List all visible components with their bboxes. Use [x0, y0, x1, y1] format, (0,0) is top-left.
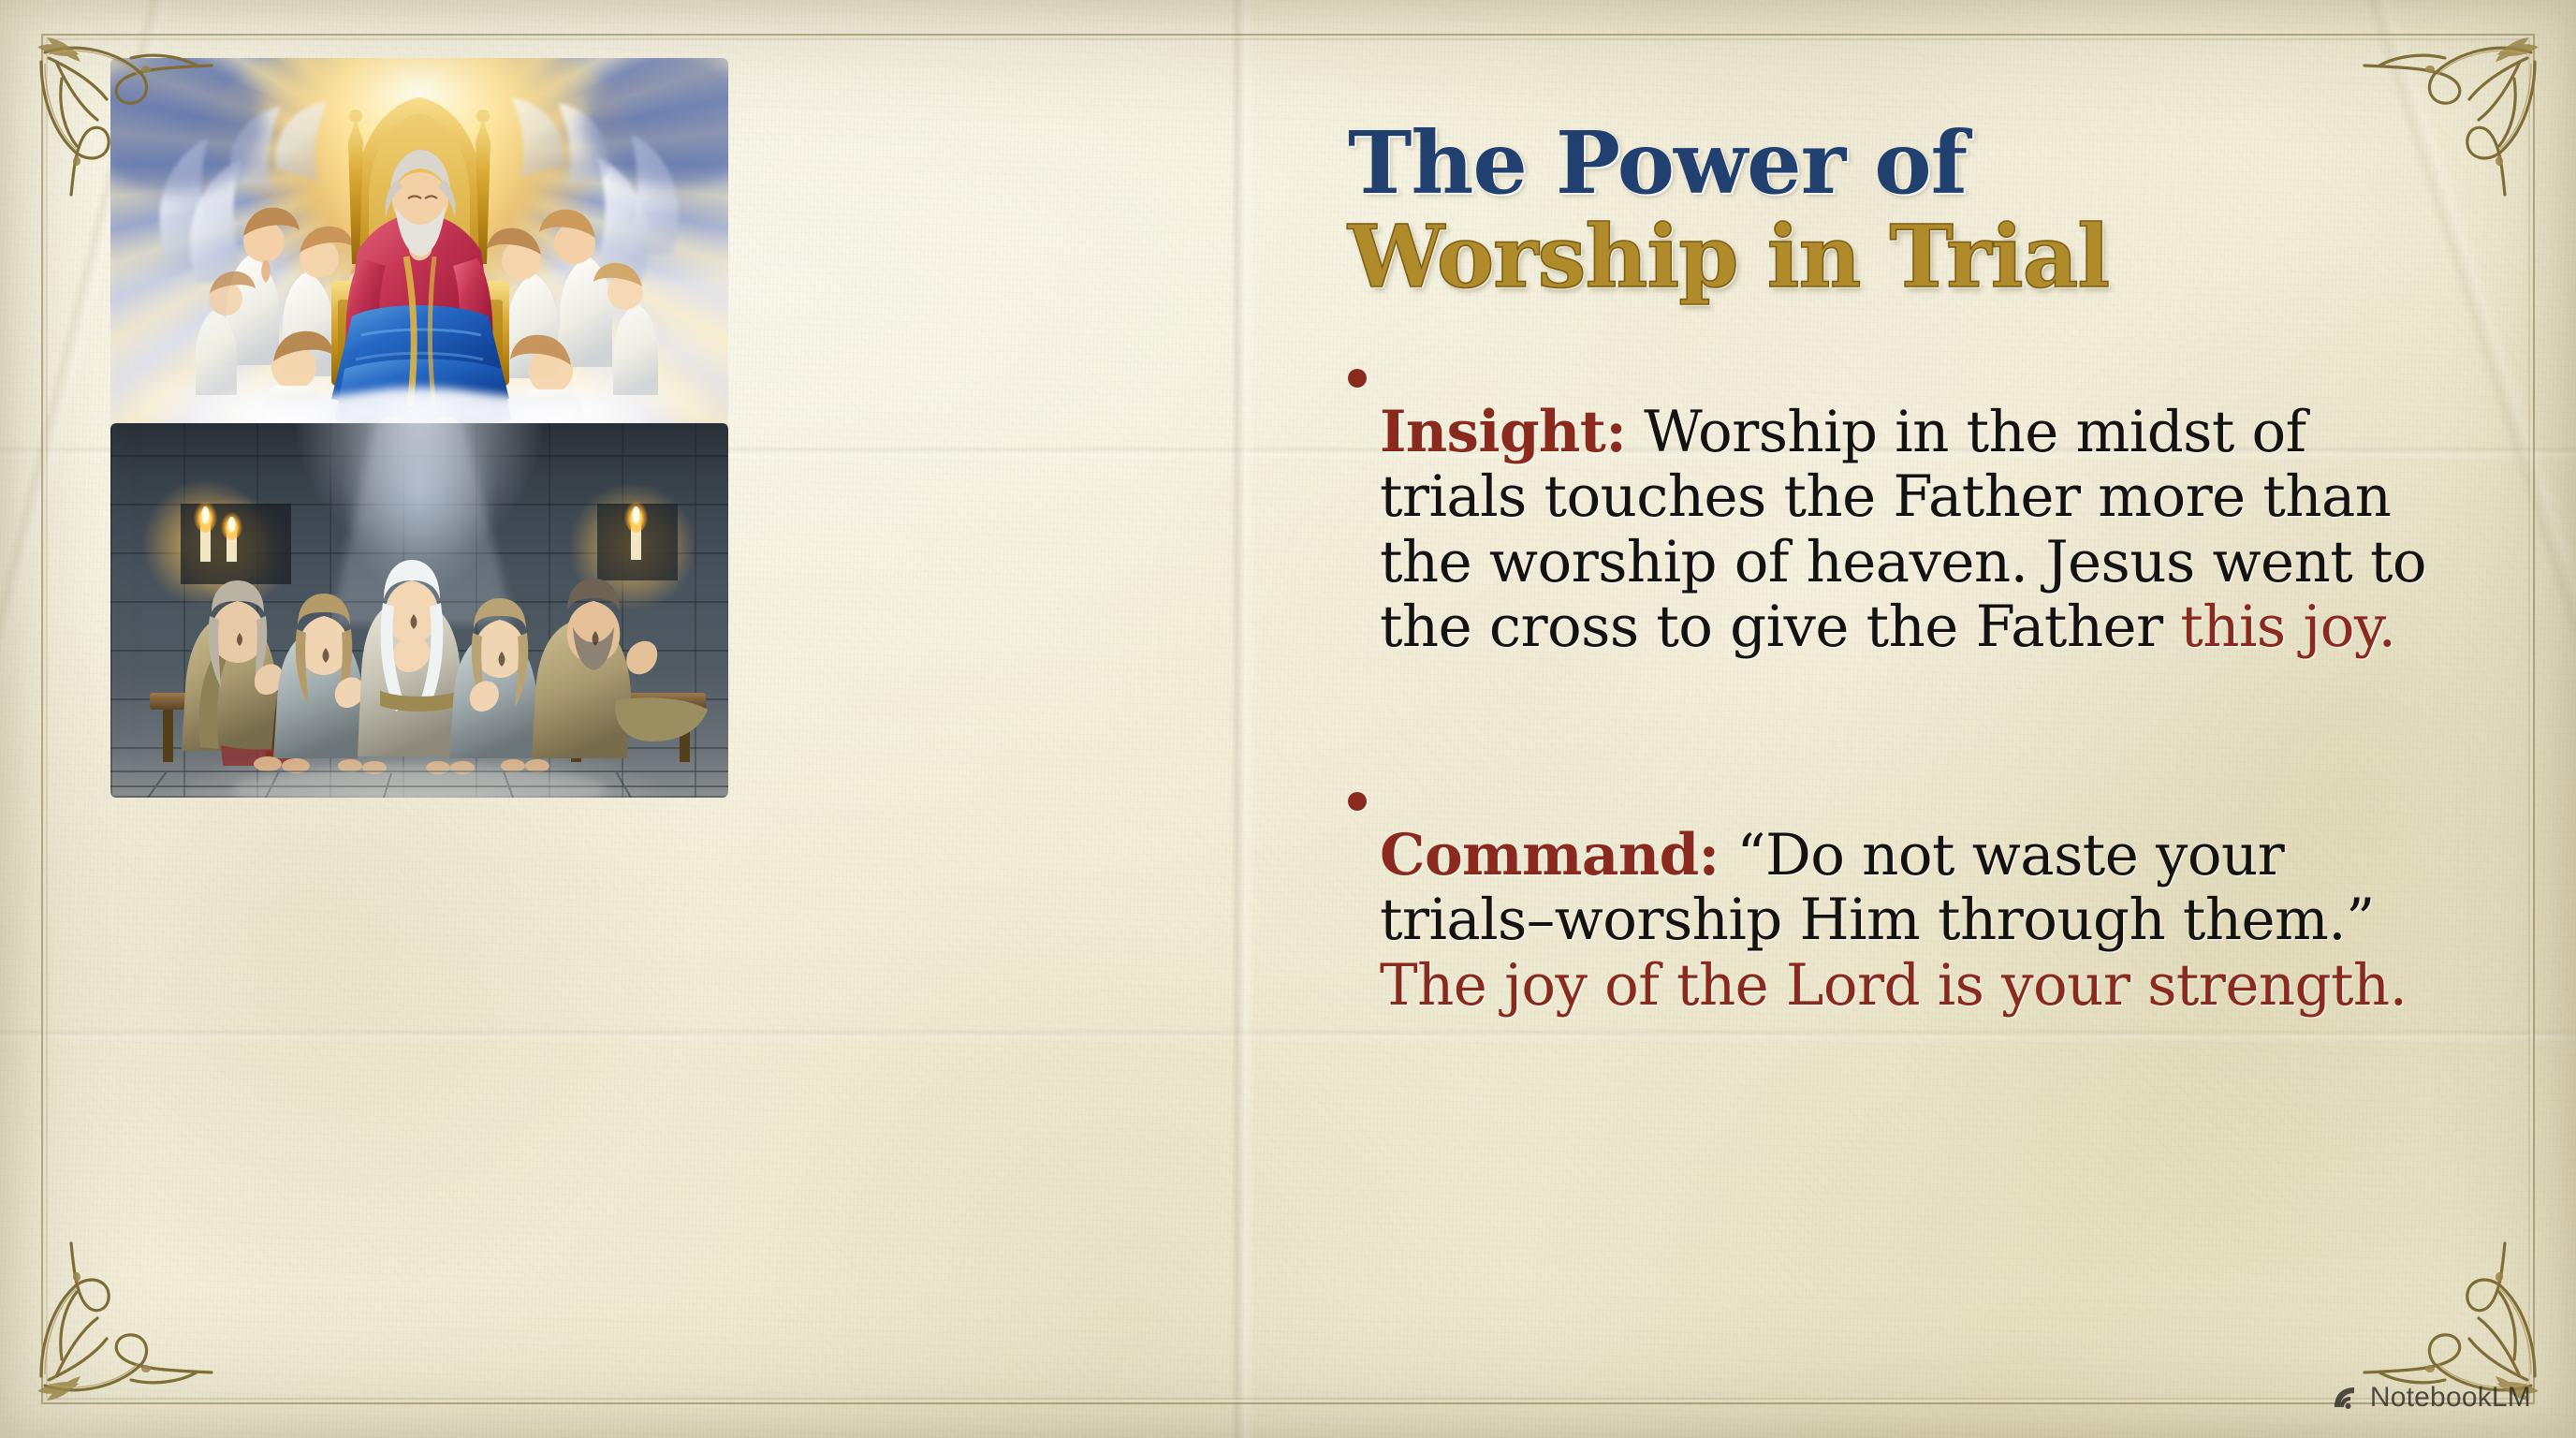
title-line-1: The Power of: [1348, 120, 2452, 208]
bullet-text-insight: Insight: Worship in the midst of trials …: [1380, 400, 2452, 660]
title-line-2: Worship in Trial: [1348, 213, 2452, 301]
bullet-text-command: Command: “Do not waste your trials–worsh…: [1380, 823, 2452, 1019]
ornament-corner-bottom-left: [21, 1240, 217, 1417]
slide-canvas: The Power of Worship in Trial Insight: W…: [0, 0, 2576, 1438]
bullet-dot-icon: [1348, 792, 1367, 811]
illustration: [110, 58, 728, 770]
heaven-figures: [110, 58, 728, 451]
heavenly-throne-scene: [110, 58, 728, 451]
bullet-accent-command: The joy of the Lord is your strength.: [1380, 952, 2407, 1019]
text-column: The Power of Worship in Trial Insight: W…: [1348, 120, 2452, 1123]
bullet-dot-icon: [1348, 369, 1367, 388]
notebooklm-spiral-icon: [2330, 1383, 2360, 1413]
bullet-accent-insight: this joy.: [2180, 594, 2395, 660]
bullet-item-command: Command: “Do not waste your trials–worsh…: [1348, 766, 2452, 1076]
bullet-label-command: Command:: [1380, 822, 1720, 888]
bullet-item-insight: Insight: Worship in the midst of trials …: [1348, 343, 2452, 717]
prison-figures: [110, 423, 728, 798]
prison-worship-scene: [110, 423, 728, 798]
notebooklm-watermark-label: NotebookLM: [2370, 1382, 2531, 1414]
bullet-label-insight: Insight:: [1380, 399, 1626, 465]
notebooklm-watermark: NotebookLM: [2330, 1382, 2531, 1414]
